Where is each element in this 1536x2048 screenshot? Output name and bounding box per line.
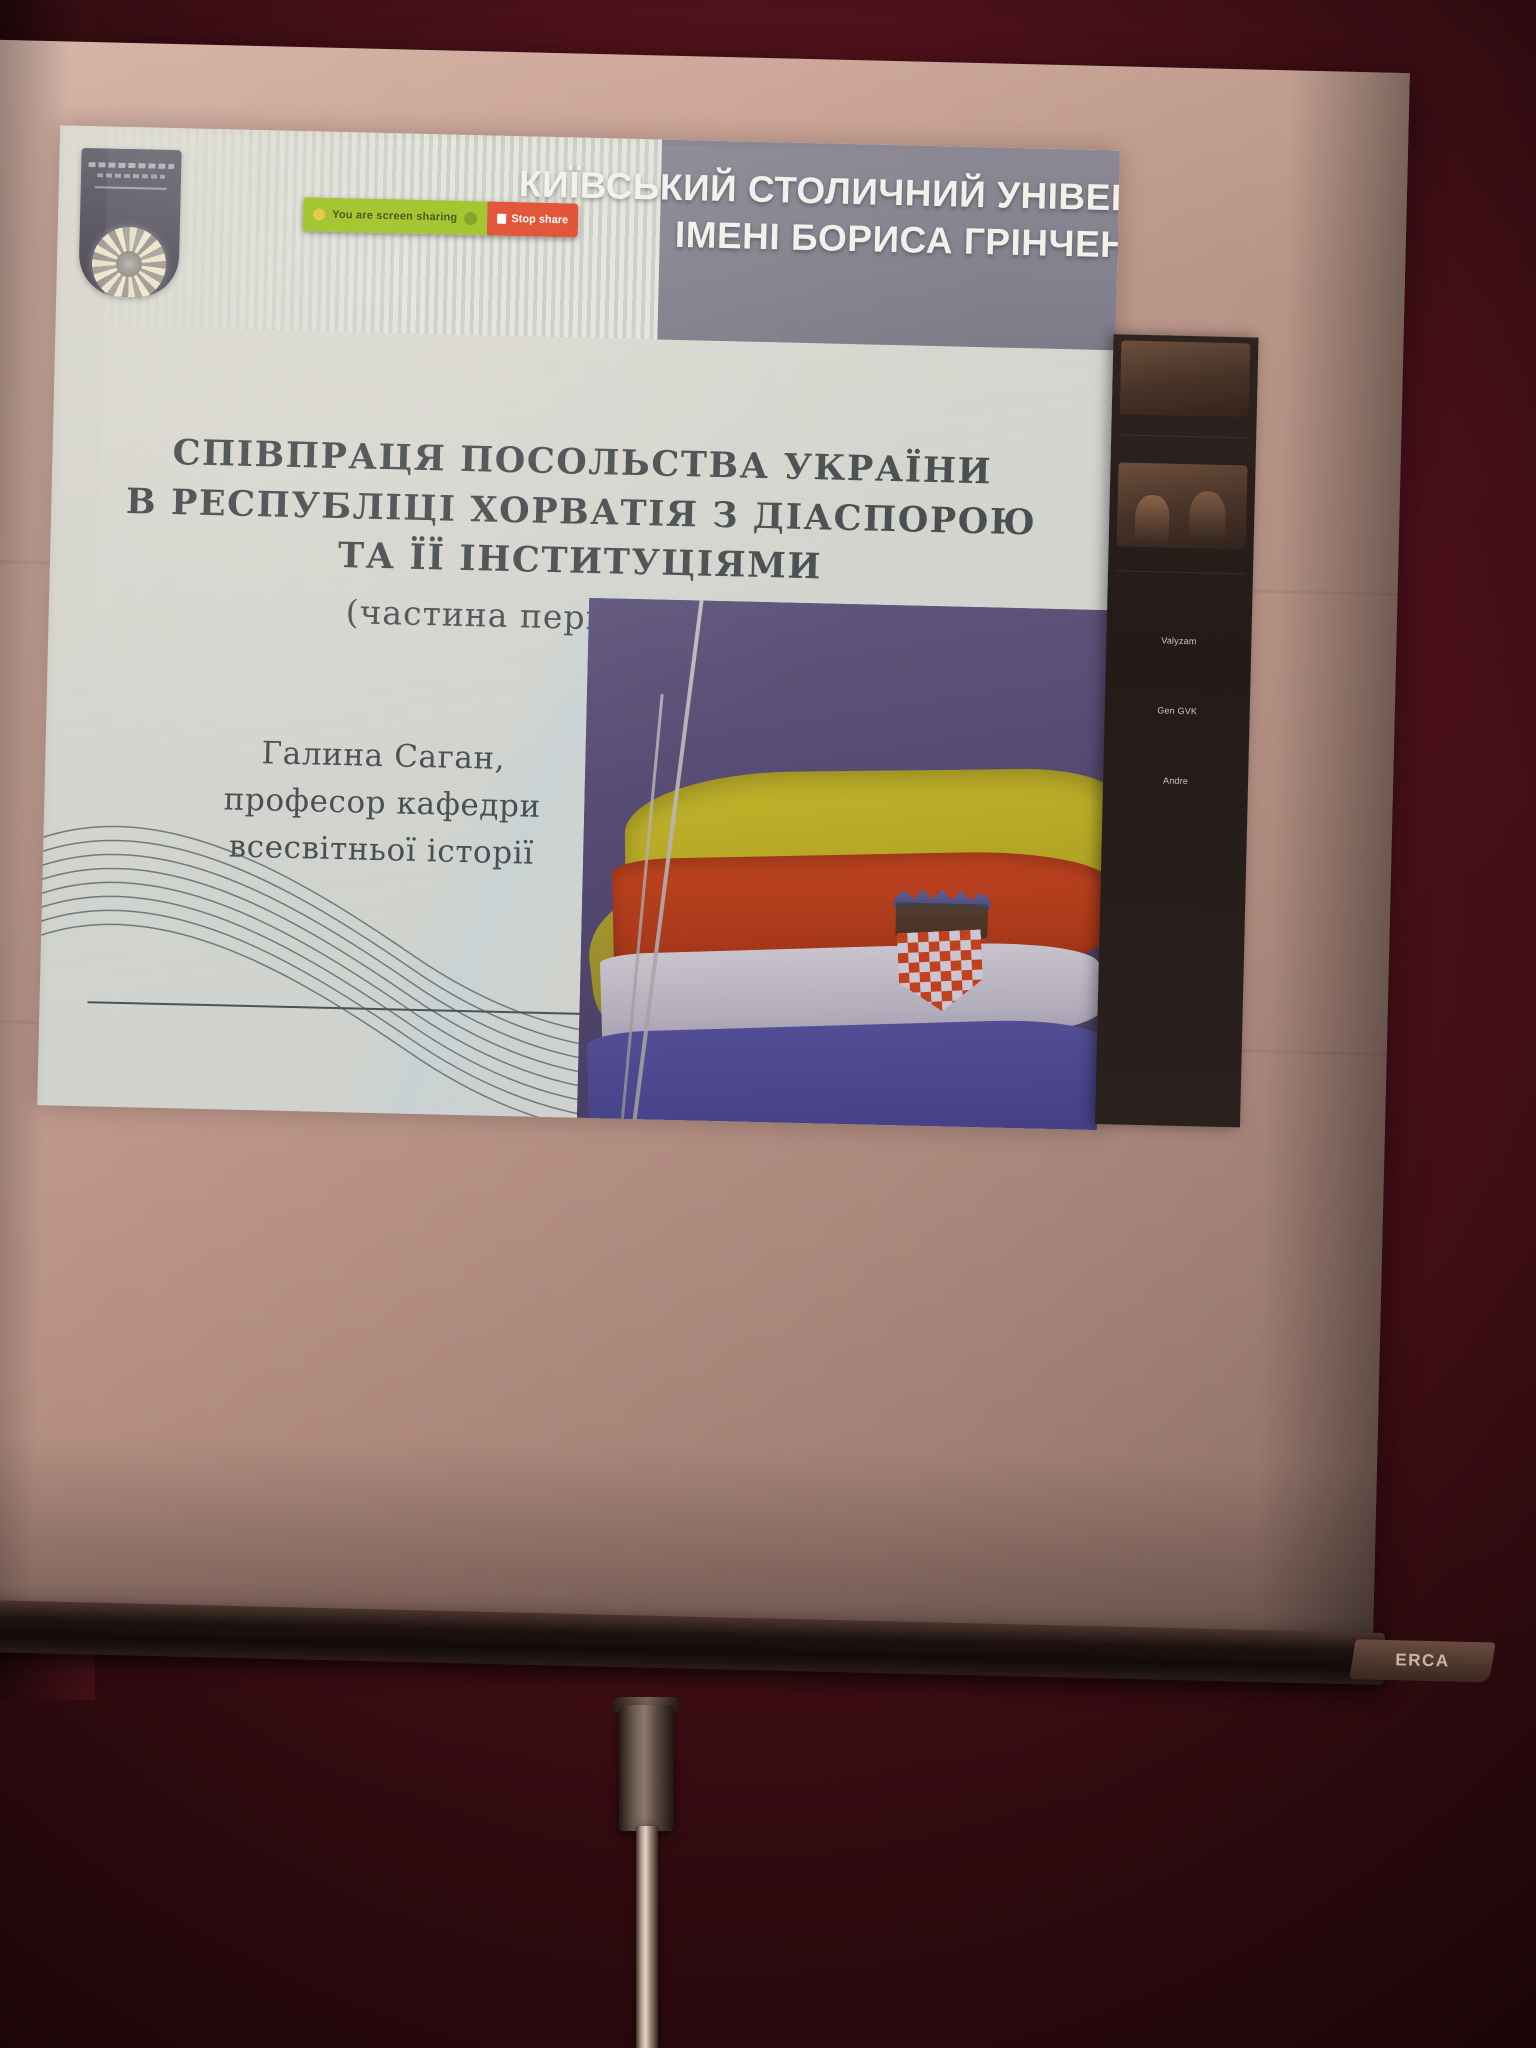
university-name: КИЇВСЬКИЙ СТОЛИЧНИЙ УНІВЕРСИТЕТ ІМЕНІ БО… xyxy=(517,164,1120,266)
stop-square-icon xyxy=(497,214,506,224)
participant-silhouette xyxy=(1135,495,1170,544)
presentation-slide: КИЇВСЬКИЙ СТОЛИЧНИЙ УНІВЕРСИТЕТ ІМЕНІ БО… xyxy=(37,125,1120,1130)
screen-fabric: КИЇВСЬКИЙ СТОЛИЧНИЙ УНІВЕРСИТЕТ ІМЕНІ БО… xyxy=(0,40,1410,1643)
participant-name[interactable]: Valyzam xyxy=(1114,634,1243,647)
emblem-text-line1 xyxy=(88,162,174,169)
sharing-status-label: You are screen sharing xyxy=(332,209,457,224)
participant-name[interactable]: Andre xyxy=(1111,774,1240,787)
video-conference-panel[interactable]: Valyzam Gen GVK Andre xyxy=(1095,334,1259,1127)
pause-share-icon[interactable] xyxy=(464,211,477,224)
stop-share-label: Stop share xyxy=(511,213,568,226)
rosette-medallion-icon xyxy=(91,226,167,298)
video-tile[interactable] xyxy=(1120,340,1251,417)
participant-name[interactable]: Gen GVK xyxy=(1113,704,1242,717)
participant-silhouette xyxy=(1189,491,1226,546)
screen-share-toolbar[interactable]: You are screen sharing Stop share xyxy=(303,197,579,237)
projection-screen: КИЇВСЬКИЙ СТОЛИЧНИЙ УНІВЕРСИТЕТ ІМЕНІ БО… xyxy=(0,40,1536,1696)
sharing-status-pill: You are screen sharing xyxy=(303,197,488,235)
panel-divider xyxy=(1119,434,1248,438)
photo-projection-tint xyxy=(577,598,1109,1130)
video-tile[interactable] xyxy=(1117,462,1248,549)
flags-photo xyxy=(577,598,1109,1130)
slide-title: СПІВПРАЦЯ ПОСОЛЬСТВА УКРАЇНИ В РЕСПУБЛІЦ… xyxy=(110,427,1053,598)
sharing-indicator-icon xyxy=(313,208,325,220)
emblem-divider xyxy=(95,186,167,190)
rosette-core xyxy=(116,251,143,278)
tripod-pole xyxy=(636,1826,658,2048)
slide-author: Галина Саган, професор кафедри всесвітнь… xyxy=(101,727,664,881)
stop-share-button[interactable]: Stop share xyxy=(487,201,579,237)
brand-text: ERCA xyxy=(1395,1650,1450,1671)
video-tile-name xyxy=(1116,550,1245,553)
video-tile-image xyxy=(1120,340,1251,417)
panel-divider xyxy=(1116,570,1245,574)
tripod-collar xyxy=(619,1705,674,1831)
emblem-text-line2 xyxy=(97,173,165,179)
university-shield-emblem xyxy=(78,148,181,298)
video-tile-name xyxy=(1120,418,1249,421)
screen-brand-label: ERCA xyxy=(1349,1639,1496,1682)
slide-header: КИЇВСЬКИЙ СТОЛИЧНИЙ УНІВЕРСИТЕТ ІМЕНІ БО… xyxy=(56,125,1120,350)
screenshot-root: КИЇВСЬКИЙ СТОЛИЧНИЙ УНІВЕРСИТЕТ ІМЕНІ БО… xyxy=(0,0,1536,2048)
